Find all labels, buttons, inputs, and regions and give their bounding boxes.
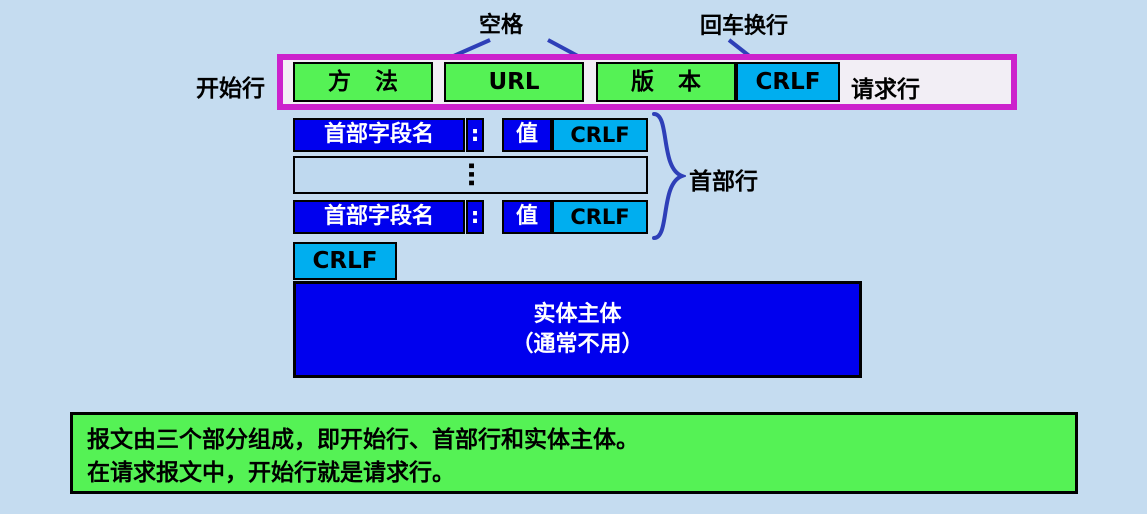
annotation-space-label: 空格 [479, 7, 523, 39]
header-row-colon: : [466, 118, 484, 152]
annotation-crlf-label: 回车换行 [700, 8, 788, 40]
entity-body-box: 实体主体 （通常不用） [293, 281, 862, 378]
header-lines-label: 首部行 [689, 162, 758, 196]
header-rows-ellipsis: ⋯ [293, 156, 648, 194]
header-row-field-name: 首部字段名 [293, 118, 465, 152]
summary-note-line2: 在请求报文中，开始行就是请求行。 [87, 457, 1061, 490]
header-row-crlf: CRLF [552, 200, 648, 234]
start-line-cell-crlf: CRLF [736, 62, 840, 102]
start-line-cell-url: URL [444, 62, 584, 102]
entity-body-line2: （通常不用） [511, 330, 643, 360]
vertical-ellipsis-icon: ⋯ [458, 162, 484, 189]
header-row-field-name: 首部字段名 [293, 200, 465, 234]
diagram-canvas: 空格 回车换行 开始行 方 法 URL 版 本 CRLF 请求行 首部字段名 :… [0, 0, 1147, 514]
header-lines-brace-icon [650, 112, 686, 240]
start-line-label: 开始行 [196, 69, 265, 103]
summary-note-line1: 报文由三个部分组成，即开始行、首部行和实体主体。 [87, 424, 1061, 457]
header-row-colon: : [466, 200, 484, 234]
header-row-field-value: 值 [502, 118, 552, 152]
header-row-field-value: 值 [502, 200, 552, 234]
header-row-crlf: CRLF [552, 118, 648, 152]
start-line-cell-method: 方 法 [293, 62, 433, 102]
blank-line-filler [397, 242, 862, 280]
start-line-cell-version: 版 本 [596, 62, 736, 102]
entity-body-line1: 实体主体 [533, 300, 621, 330]
summary-note: 报文由三个部分组成，即开始行、首部行和实体主体。 在请求报文中，开始行就是请求行… [70, 412, 1078, 494]
request-line-label: 请求行 [851, 70, 920, 104]
blank-line-crlf: CRLF [293, 242, 397, 280]
